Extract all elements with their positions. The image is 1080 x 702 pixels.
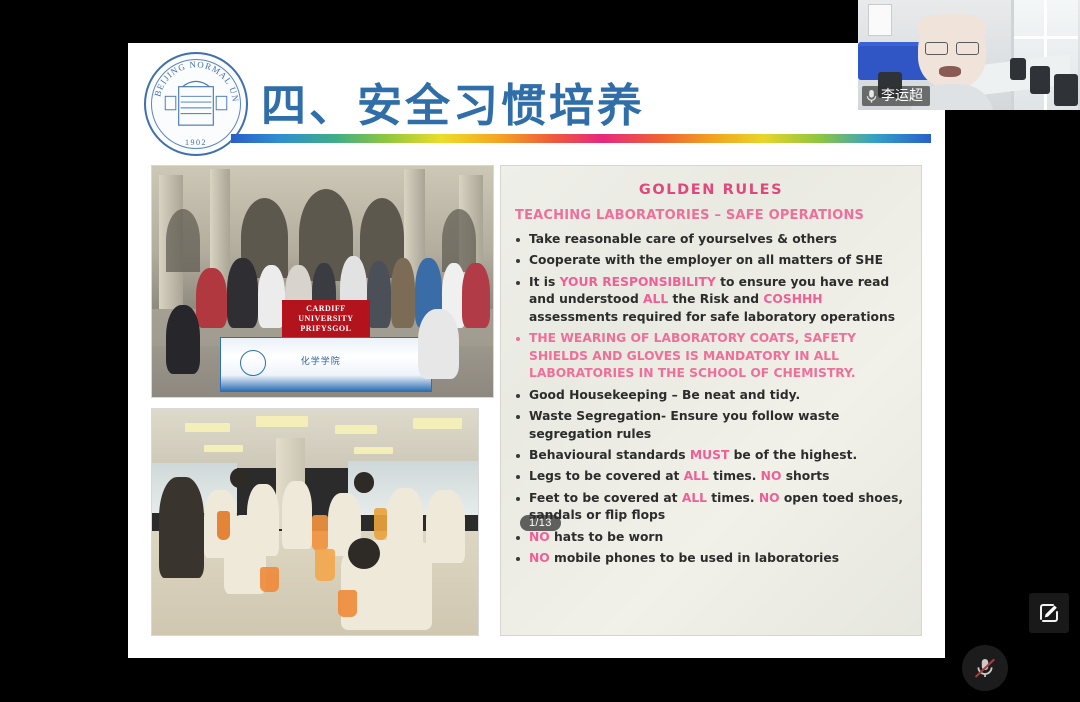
rule-item: NO hats to be worn (513, 529, 909, 546)
glasses (925, 42, 979, 53)
slide-title: 四、安全习惯培养 (261, 69, 645, 134)
rules-subtitle: TEACHING LABORATORIES – SAFE OPERATIONS (515, 208, 909, 223)
rule-item: It is YOUR RESPONSIBILITY to ensure you … (513, 274, 909, 326)
rule-item: Take reasonable care of yourselves & oth… (513, 231, 909, 248)
rule-item: Cooperate with the employer on all matte… (513, 252, 909, 269)
office-chair (1010, 58, 1026, 80)
microphone-icon (866, 89, 877, 104)
annotate-button[interactable] (1029, 593, 1069, 633)
rule-item: THE WEARING OF LABORATORY COATS, SAFETY … (513, 330, 909, 382)
laboratory-photo (151, 408, 479, 636)
rule-item: Good Housekeeping – Be neat and tidy. (513, 387, 909, 404)
bnu-banner-text: 化学学院 (301, 354, 341, 367)
rule-item: Waste Segregation- Ensure you follow was… (513, 408, 909, 443)
annotate-icon (1037, 601, 1061, 625)
rule-item: Legs to be covered at ALL times. NO shor… (513, 468, 909, 485)
bnu-banner: 化学学院 (220, 337, 431, 392)
participant-name-badge: 李运超 (862, 86, 930, 106)
participant-name: 李运超 (881, 87, 923, 105)
participant-video-tile[interactable]: 李运超 (858, 0, 1080, 110)
slide-header: BEIJING NORMAL UNIVERSITY 1902 四、安全习惯培养 (128, 43, 945, 158)
rules-list: Take reasonable care of yourselves & oth… (513, 231, 909, 568)
rainbow-accent-bar (231, 134, 931, 143)
rule-item: Feet to be covered at ALL times. NO open… (513, 490, 909, 525)
mute-microphone-button[interactable] (962, 645, 1008, 691)
office-chair (1030, 66, 1050, 94)
rule-item: NO mobile phones to be used in laborator… (513, 550, 909, 567)
microphone-muted-icon (972, 655, 998, 681)
screen-share-stage: BEIJING NORMAL UNIVERSITY 1902 四、安全习惯培养 (0, 0, 1080, 702)
golden-rules-panel: GOLDEN RULES TEACHING LABORATORIES – SAF… (500, 165, 922, 636)
rules-title: GOLDEN RULES (513, 182, 909, 198)
presentation-slide: BEIJING NORMAL UNIVERSITY 1902 四、安全习惯培养 (128, 43, 945, 658)
group-photo-cardiff: CARDIFF UNIVERSITY PRIFYSGOL 化学学院 (151, 165, 494, 398)
svg-text:BEIJING NORMAL UNIVERSITY: BEIJING NORMAL UNIVERSITY (146, 54, 241, 103)
wall-picture (868, 4, 892, 36)
rule-item: Behavioural standards MUST be of the hig… (513, 447, 909, 464)
office-chair (1054, 74, 1078, 106)
page-indicator: 1/13 (520, 515, 561, 531)
